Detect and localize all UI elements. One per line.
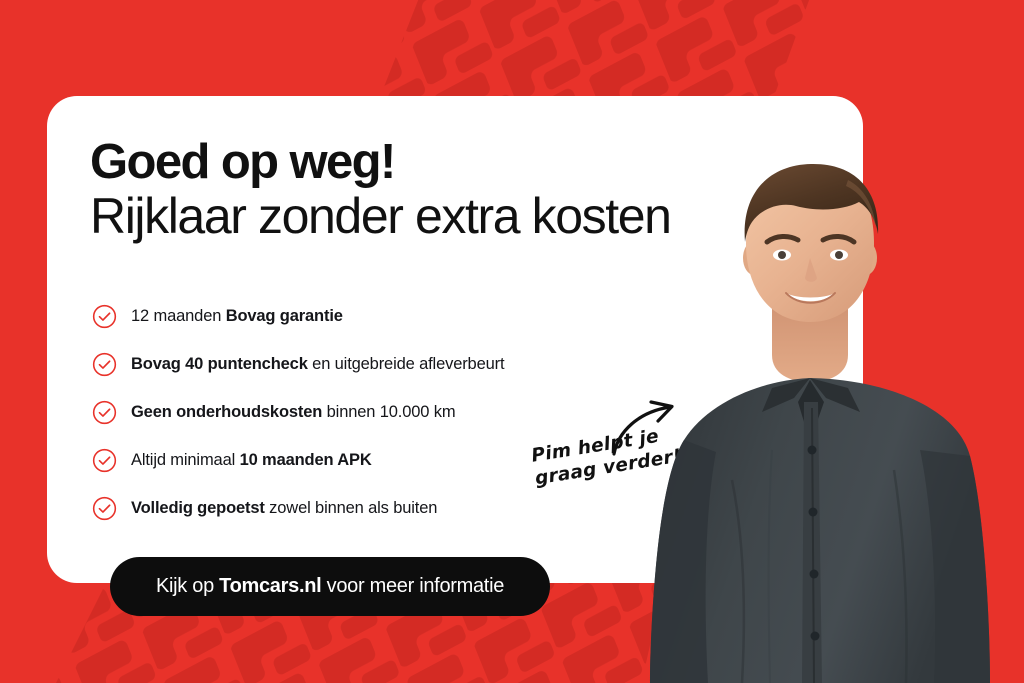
circle-check-icon: [92, 304, 117, 329]
list-item: Geen onderhoudskosten binnen 10.000 km: [92, 388, 652, 436]
list-item: Altijd minimaal 10 maanden APK: [92, 436, 652, 484]
promo-banner: Goed op weg! Rijklaar zonder extra koste…: [0, 0, 1024, 683]
list-item-label: Altijd minimaal 10 maanden APK: [131, 451, 372, 470]
page-subtitle: Rijklaar zonder extra kosten: [90, 190, 790, 243]
circle-check-icon: [92, 496, 117, 521]
list-item-label: 12 maanden Bovag garantie: [131, 307, 343, 326]
cta-button-label: Kijk op Tomcars.nl voor meer informatie: [156, 575, 504, 598]
circle-check-icon: [92, 448, 117, 473]
cta-button[interactable]: Kijk op Tomcars.nl voor meer informatie: [110, 557, 550, 616]
list-item: Volledig gepoetst zowel binnen als buite…: [92, 484, 652, 532]
circle-check-icon: [92, 400, 117, 425]
list-item-label: Volledig gepoetst zowel binnen als buite…: [131, 499, 437, 518]
list-item: 12 maanden Bovag garantie: [92, 292, 652, 340]
headline-block: Goed op weg! Rijklaar zonder extra koste…: [90, 137, 790, 243]
list-item: Bovag 40 puntencheck en uitgebreide afle…: [92, 340, 652, 388]
benefits-list: 12 maanden Bovag garantie Bovag 40 punte…: [92, 292, 652, 532]
list-item-label: Geen onderhoudskosten binnen 10.000 km: [131, 403, 455, 422]
page-title: Goed op weg!: [90, 137, 790, 188]
circle-check-icon: [92, 352, 117, 377]
list-item-label: Bovag 40 puntencheck en uitgebreide afle…: [131, 355, 504, 374]
